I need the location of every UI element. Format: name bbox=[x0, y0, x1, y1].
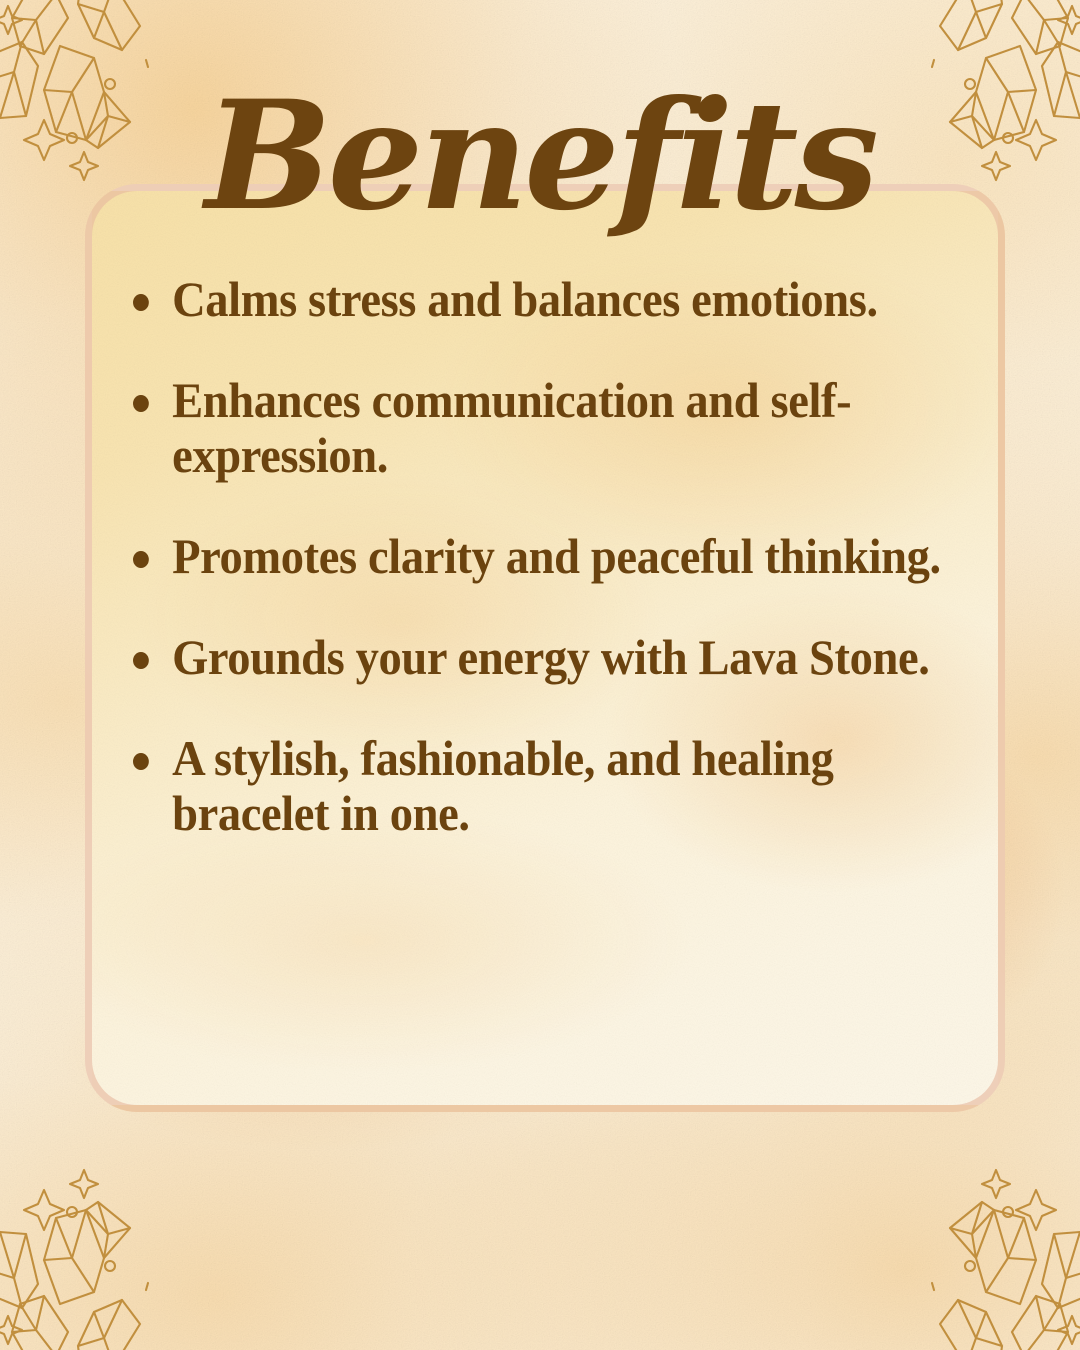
page-title: Benefits bbox=[0, 78, 1080, 253]
dot-bullet-icon bbox=[133, 294, 149, 311]
list-item-label: Enhances communication and self-expressi… bbox=[172, 373, 948, 483]
list-item: A stylish, fashionable, and healing brac… bbox=[120, 731, 948, 841]
crystal-cluster-icon-bottom-right bbox=[879, 1143, 1080, 1350]
dot-bullet-icon bbox=[133, 395, 149, 412]
benefits-list: Calms stress and balances emotions. Enha… bbox=[120, 272, 1010, 841]
crystal-cluster-icon-bottom-left bbox=[0, 1143, 201, 1350]
list-item: Promotes clarity and peaceful thinking. bbox=[120, 529, 948, 584]
list-item-label: Promotes clarity and peaceful thinking. bbox=[172, 529, 948, 584]
dot-bullet-icon bbox=[133, 551, 149, 568]
list-item: Grounds your energy with Lava Stone. bbox=[120, 630, 948, 685]
page-title-text: Benefits bbox=[201, 68, 877, 244]
list-item: Enhances communication and self-expressi… bbox=[120, 373, 948, 483]
dot-bullet-icon bbox=[133, 753, 149, 770]
list-item-label: Calms stress and balances emotions. bbox=[172, 272, 948, 327]
list-item: Calms stress and balances emotions. bbox=[120, 272, 948, 327]
benefits-poster: Benefits Calms stress and balances emoti… bbox=[0, 0, 1080, 1350]
dot-bullet-icon bbox=[133, 652, 149, 669]
list-item-label: A stylish, fashionable, and healing brac… bbox=[172, 731, 948, 841]
list-item-label: Grounds your energy with Lava Stone. bbox=[172, 630, 948, 685]
